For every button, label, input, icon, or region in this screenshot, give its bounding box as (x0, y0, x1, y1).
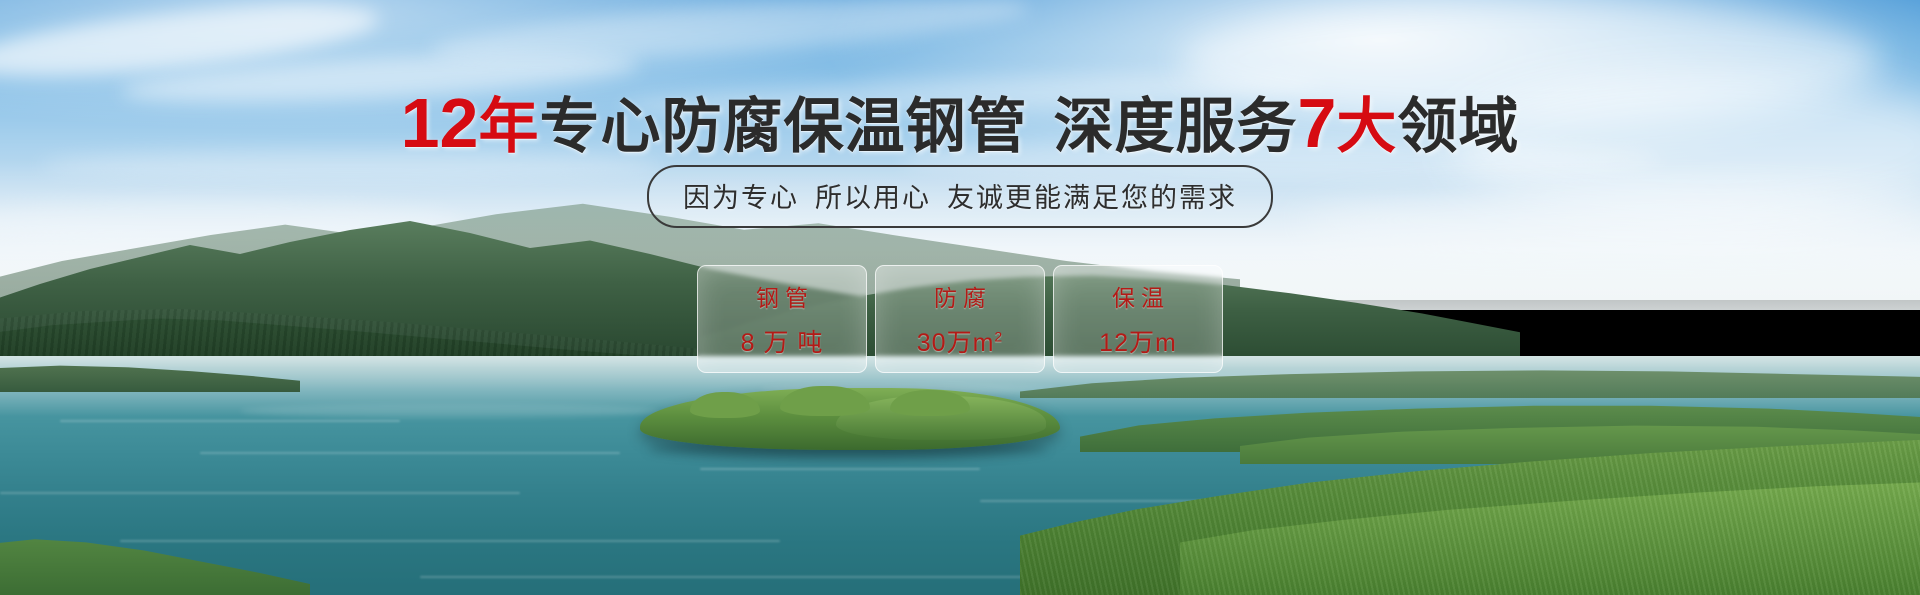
water-ripple (420, 576, 1120, 578)
headline-fields-number: 7 (1297, 84, 1336, 162)
stat-card-insulation[interactable]: 保温 12万m (1053, 265, 1223, 373)
headline-main-text: 专心防腐保温钢管 (539, 93, 1027, 160)
water-streak (240, 404, 660, 418)
headline-years-unit: 年 (478, 93, 539, 160)
water-ripple (60, 420, 400, 422)
stat-value: 12万m (1099, 323, 1177, 359)
stat-category-label: 防腐 (928, 279, 992, 313)
stat-value: 8 万 吨 (741, 323, 824, 359)
headline-fields-text: 领域 (1397, 93, 1519, 160)
stat-card-anticorrosion[interactable]: 防腐 30万m2 (875, 265, 1045, 373)
headline-years-number: 12 (401, 84, 479, 162)
slogan-part-3: 友诚更能满足您的需求 (947, 183, 1237, 213)
slogan-part-2: 所以用心 (815, 183, 931, 213)
headline-fields-big: 大 (1336, 93, 1397, 160)
water-ripple (0, 492, 520, 494)
stat-category-label: 保温 (1106, 279, 1170, 313)
stat-value-text: 8 万 吨 (741, 329, 824, 357)
water-ripple (200, 452, 620, 454)
slogan-pill: 因为专心所以用心友诚更能满足您的需求 (647, 165, 1273, 228)
grass-tuft (690, 392, 760, 418)
water-ripple (700, 468, 980, 470)
stat-value: 30万m2 (917, 323, 1003, 359)
stat-value-text: 12万m (1099, 329, 1177, 357)
headline-service-text: 深度服务 (1053, 93, 1297, 160)
stat-category-label: 钢管 (750, 279, 814, 313)
stat-value-text: 30万m (917, 329, 995, 357)
stat-card-steel-pipe[interactable]: 钢管 8 万 吨 (697, 265, 867, 373)
water-ripple (120, 540, 780, 542)
banner-headline: 12年专心防腐保温钢管深度服务7大领域 (0, 88, 1920, 158)
grass-tuft (890, 390, 970, 416)
hero-banner: 12年专心防腐保温钢管深度服务7大领域 因为专心所以用心友诚更能满足您的需求 钢… (0, 0, 1920, 595)
slogan-part-1: 因为专心 (683, 183, 799, 213)
stat-card-group: 钢管 8 万 吨 防腐 30万m2 保温 12万m (697, 265, 1223, 373)
stat-value-superscript: 2 (994, 329, 1003, 345)
